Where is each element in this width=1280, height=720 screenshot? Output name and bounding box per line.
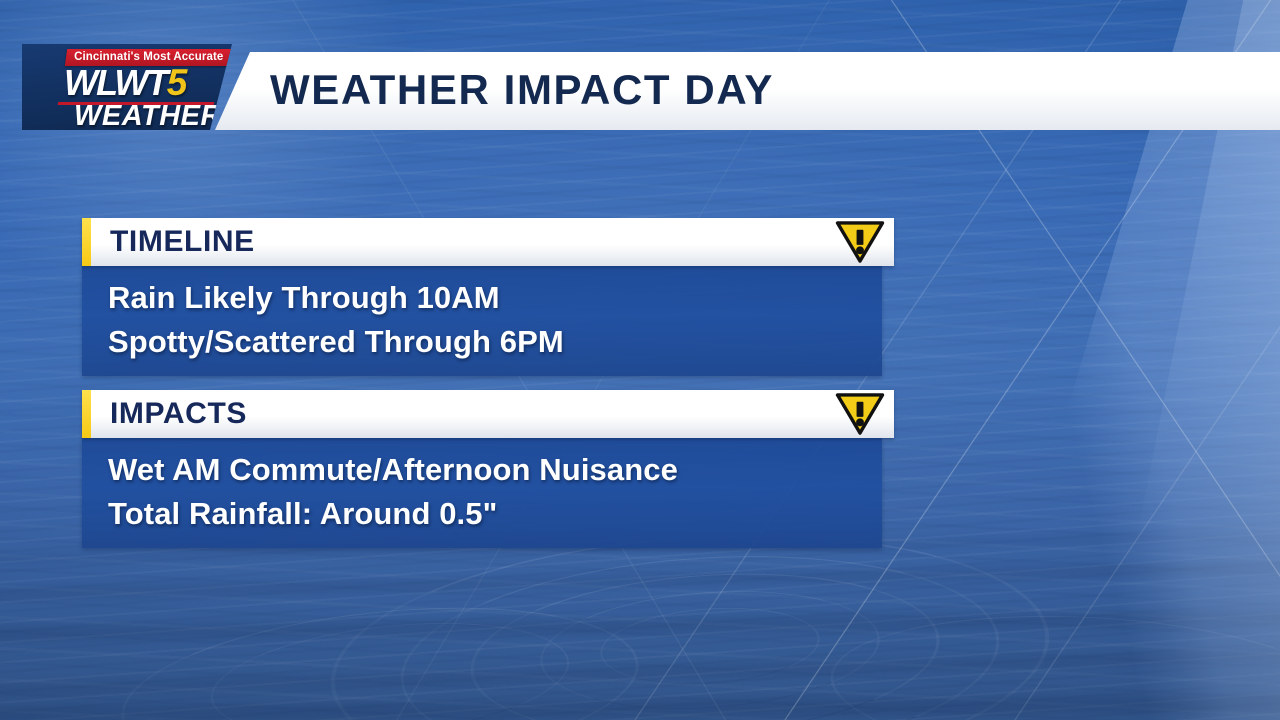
section-impacts: IMPACTS Wet AM Commute/Afternoon Nuisanc…: [82, 390, 894, 548]
section-body-timeline: Rain Likely Through 10AM Spotty/Scattere…: [82, 266, 882, 376]
section-title: TIMELINE: [110, 225, 255, 259]
accent-bar: [82, 390, 91, 438]
station-callsign-text: WLWT: [64, 62, 167, 103]
section-line: Wet AM Commute/Afternoon Nuisance: [108, 448, 882, 492]
station-department: WEATHER: [74, 102, 222, 130]
section-timeline: TIMELINE Rain Likely Through 10AM Spotty…: [82, 218, 894, 376]
section-body-impacts: Wet AM Commute/Afternoon Nuisance Total …: [82, 438, 882, 548]
warning-triangle-icon: [835, 221, 885, 263]
station-callsign: WLWT5: [64, 64, 186, 101]
section-header-impacts: IMPACTS: [82, 390, 894, 438]
weather-panels: TIMELINE Rain Likely Through 10AM Spotty…: [82, 218, 894, 562]
station-channel-number: 5: [167, 62, 186, 103]
section-line: Spotty/Scattered Through 6PM: [108, 320, 882, 364]
section-header-timeline: TIMELINE: [82, 218, 894, 266]
accent-bar: [82, 218, 91, 266]
section-line: Total Rainfall: Around 0.5": [108, 492, 882, 536]
page-title: WEATHER IMPACT DAY: [270, 66, 774, 114]
section-line: Rain Likely Through 10AM: [108, 276, 882, 320]
station-logo: Cincinnati's Most Accurate WLWT5 WEATHER: [22, 44, 232, 130]
section-title: IMPACTS: [110, 397, 247, 431]
warning-triangle-icon: [835, 393, 885, 435]
